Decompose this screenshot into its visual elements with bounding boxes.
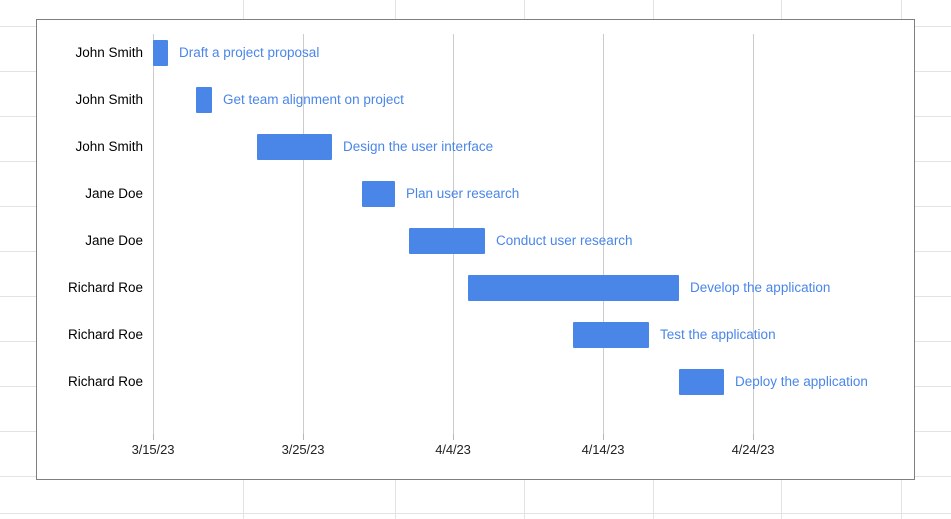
chart-plot-area: 3/15/233/25/234/4/234/14/234/24/23John S…	[37, 20, 914, 479]
gantt-row[interactable]: Jane DoeConduct user research	[37, 217, 914, 264]
gantt-row-assignee-label: Richard Roe	[37, 358, 143, 405]
x-axis-tick-label: 4/4/23	[435, 442, 471, 457]
gantt-bar-task-label: Test the application	[660, 311, 776, 358]
gantt-bar[interactable]	[679, 369, 724, 395]
gantt-bar[interactable]	[196, 87, 212, 113]
gantt-bar-task-label: Develop the application	[690, 264, 830, 311]
gantt-bar-task-label: Draft a project proposal	[179, 29, 319, 76]
gantt-bar-task-label: Get team alignment on project	[223, 76, 404, 123]
gantt-bar[interactable]	[573, 322, 649, 348]
gantt-row[interactable]: Richard RoeDevelop the application	[37, 264, 914, 311]
gantt-row-assignee-label: Jane Doe	[37, 217, 143, 264]
gantt-bar[interactable]	[362, 181, 395, 207]
gantt-row[interactable]: Richard RoeDeploy the application	[37, 358, 914, 405]
gantt-bar-task-label: Conduct user research	[496, 217, 633, 264]
gantt-row[interactable]: John SmithDraft a project proposal	[37, 29, 914, 76]
x-axis-tick-label: 4/24/23	[732, 442, 775, 457]
gantt-bar-task-label: Design the user interface	[343, 123, 493, 170]
gantt-row-assignee-label: Richard Roe	[37, 264, 143, 311]
gantt-bar[interactable]	[409, 228, 485, 254]
gantt-row[interactable]: Jane DoePlan user research	[37, 170, 914, 217]
x-axis-tick-mark	[153, 434, 154, 440]
sheet-row-divider	[0, 513, 951, 514]
x-axis-tick-mark	[603, 434, 604, 440]
x-axis-tick-label: 4/14/23	[582, 442, 625, 457]
gantt-row[interactable]: John SmithGet team alignment on project	[37, 76, 914, 123]
x-axis-tick-mark	[753, 434, 754, 440]
gantt-row-assignee-label: Richard Roe	[37, 311, 143, 358]
gantt-row-assignee-label: John Smith	[37, 123, 143, 170]
gantt-bar[interactable]	[468, 275, 679, 301]
gantt-bar-task-label: Plan user research	[406, 170, 519, 217]
gantt-row[interactable]: John SmithDesign the user interface	[37, 123, 914, 170]
x-axis-tick-mark	[303, 434, 304, 440]
gantt-row[interactable]: Richard RoeTest the application	[37, 311, 914, 358]
gantt-bar[interactable]	[153, 40, 168, 66]
gantt-bar-task-label: Deploy the application	[735, 358, 868, 405]
x-axis-tick-mark	[453, 434, 454, 440]
gantt-chart[interactable]: 3/15/233/25/234/4/234/14/234/24/23John S…	[36, 19, 915, 480]
x-axis-tick-label: 3/15/23	[132, 442, 175, 457]
gantt-row-assignee-label: John Smith	[37, 29, 143, 76]
gantt-row-assignee-label: John Smith	[37, 76, 143, 123]
gantt-row-assignee-label: Jane Doe	[37, 170, 143, 217]
gantt-bar[interactable]	[257, 134, 332, 160]
x-axis-tick-label: 3/25/23	[282, 442, 325, 457]
